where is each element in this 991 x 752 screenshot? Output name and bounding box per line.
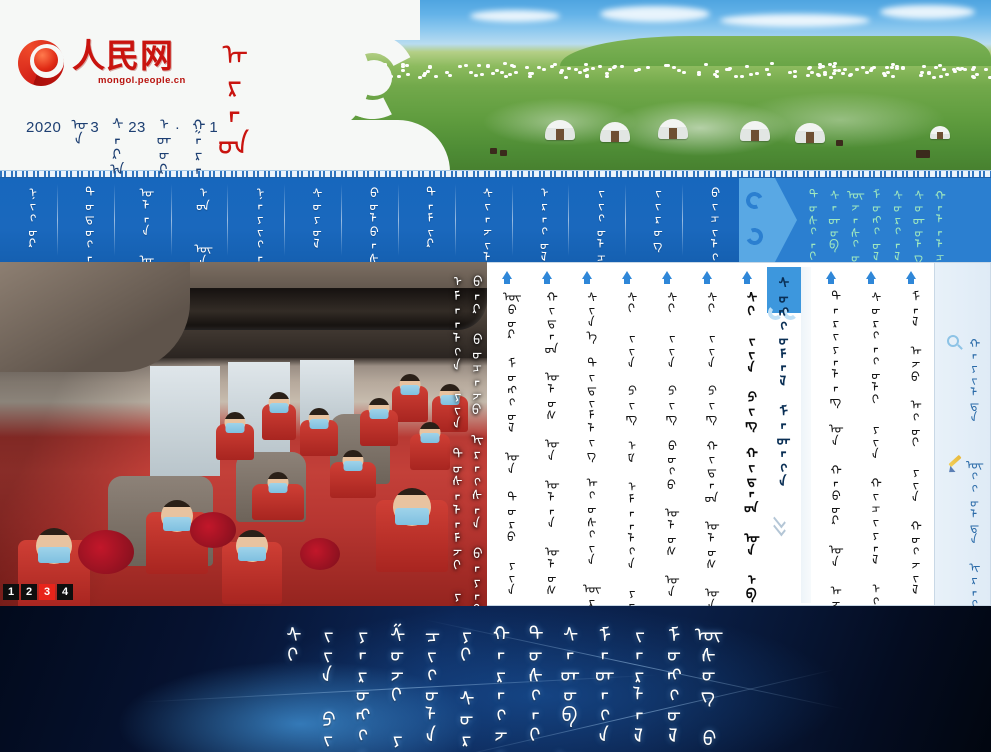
nav-item-5[interactable]: ᠰᠣᠶᠣᠯ — [284, 178, 341, 262]
cloud-swirl-ornament — [0, 0, 520, 172]
nav-item-label: ᠵᠢᠷᠤᠭ — [647, 185, 661, 250]
news-panel: ᠰᠣᠩᠭᠣᠮᠠᠯ ᠮᠡᠳᠡᠭᠡᠰᠢ ᠵᠢᠨ ᠫᠢᠩ ᠬᠢᠲᠠᠳ ᠤᠨ ᠡᠪ ᠬᠠ… — [487, 262, 935, 606]
nav-item-6[interactable]: ᠪᠣᠯᠪᠠᠰᠤᠷᠠᠯ — [341, 178, 398, 262]
banner-text-item-4: ᠴᠢᠬᠤᠯᠠ ᠶᠠᠷᠢᠶ᠎ᠠ — [416, 624, 438, 752]
news-item-title: ᠥᠪᠥᠷ ᠮᠣᠩᠭᠣᠯ ᠤᠨ ᠲᠥᠷᠥ ᠶᠢᠨ ᠶᠠᠪᠤᠳᠠᠯ ᠤᠨ ᠬᠤᠷᠠᠯ… — [500, 289, 515, 603]
greek-key-border — [0, 170, 991, 178]
banner-text-item-9: ᠮᠡᠳᠡᠭᠡ — [588, 624, 610, 744]
horse — [836, 140, 843, 146]
rail-button-0[interactable]: ᠬᠠᠶᠢᠯᠲᠠ — [947, 335, 979, 423]
news-item-title: ᠰᠢ ᠵᠢᠨ ᠫᠢᠩ ᠪᠦᠬᠦ ᠤᠯᠤᠰ ᠤᠨ ᠠᠷᠠᠳ ᠲᠦᠮᠡᠨ ᠳᠦ ᠪᠠ… — [660, 289, 675, 603]
blue-arrow-bullet-icon — [662, 271, 672, 279]
nav-item-label: ᠰᠣᠶᠣᠯ — [306, 185, 320, 250]
blue-arrow-bullet-icon — [702, 271, 712, 279]
news-item-title: ᠮᠠᠯ ᠠᠵᠤ ᠠᠬᠤᠢ ᠶᠢᠨ ᠬᠥᠭᠵᠢᠯ ᠦᠨ ᠰᠢᠨ᠎ᠡ ᠵᠠᠮ ᠁ — [904, 289, 919, 603]
nav-item-label: ᠪᠣᠯᠪᠠᠰᠤᠷᠠᠯ — [363, 185, 377, 262]
news-item[interactable]: ᠲᠠᠷᠢᠶᠠᠯᠠᠩ ᠤᠨ ᠬᠠᠪᠤᠷ ᠤᠨ ᠠᠵᠢᠯ ᠡᠷᠴᠢᠮᠲᠡᠢ ᠶᠠᠪᠤ… — [811, 267, 851, 603]
logo-url-text: mongol.people.cn — [98, 75, 186, 86]
news-item[interactable]: ᠮᠠᠯ ᠠᠵᠤ ᠠᠬᠤᠢ ᠶᠢᠨ ᠬᠥᠭᠵᠢᠯ ᠦᠨ ᠰᠢᠨ᠎ᠡ ᠵᠠᠮ ᠁ — [891, 267, 931, 603]
nav-item-2[interactable]: ᠣᠯᠠᠨ ᠤᠯᠤᠰ — [114, 178, 171, 262]
date-weekday-particle: ᠭᠠᠷᠠᠭ — [187, 116, 202, 138]
nav-item-1[interactable]: ᠳᠣᠲᠣᠭᠠᠳᠤ ᠮᠡᠳᠡᠭᠡ — [57, 178, 114, 262]
date-day: 23 — [128, 119, 146, 136]
news-section-header: ᠰᠣᠩᠭᠣᠮᠠᠯ ᠮᠡᠳᠡᠭᠡ — [767, 267, 801, 603]
news-item-title: ᠬᠢᠲᠠᠳ ᠤᠯᠤᠰ ᠤᠨ ᠣᠯᠠᠨ ᠤᠯᠤᠰ ᠤᠨ ᠬᠠᠮᠲᠤᠷᠠᠯᠴᠠᠭ᠎ᠠ… — [540, 289, 555, 603]
nav-special-item-5[interactable]: ᠰᠤᠳᠤᠯᠭ᠎ᠠ — [907, 187, 926, 262]
nav-item-11[interactable]: ᠵᠢᠷᠤᠭ — [625, 178, 682, 262]
date-weekday: 1 — [209, 119, 218, 136]
cloud-shape — [720, 14, 870, 27]
news-item[interactable]: ᠰᠢ ᠵᠢᠨ ᠫᠢᠩ ᠡᠮ ᠡᠮᠨᠡᠯᠭᠡ ᠶᠢᠨ ᠠᠵᠢᠯᠲᠠᠨ ᠢ ᠬᠦᠨᠳ… — [607, 267, 647, 603]
photo-caption-line-0: ᠡᠮᠨᠡᠯᠭᠡ ᠶᠢᠨ ᠲᠤᠰᠠᠯᠠᠮᠵᠢ ᠶᠢᠨ ᠪᠠᠭ ᠬᠤᠪᠧᠢ ᠠᠴᠠ … — [446, 274, 462, 592]
nav-item-7[interactable]: ᠲᠠᠮᠢᠷ — [398, 178, 455, 262]
slider-pager-dot-1[interactable]: 1 — [3, 584, 19, 600]
yurt — [795, 123, 825, 143]
nav-special-panel: ᠲᠤᠰᠬᠠᠢᠰᠡᠳᠦᠪᠦᠵᠡᠰᠬᠦᠯᠡᠩᠮᠣᠩᠭᠣᠯᠰᠤᠷᠭᠠᠯᠰᠤᠳᠤᠯᠭ᠎ᠠ… — [739, 178, 991, 262]
photo-caption: ᠡᠮᠨᠡᠯᠭᠡ ᠶᠢᠨ ᠲᠤᠰᠠᠯᠠᠮᠵᠢ ᠶᠢᠨ ᠪᠠᠭ ᠬᠤᠪᠧᠢ ᠠᠴᠠ … — [446, 274, 481, 592]
blue-arrow-bullet-icon — [622, 271, 632, 279]
nav-item-10[interactable]: ᠵᠢᠭᠤᠯᠴᠢᠯᠠᠯ — [568, 178, 625, 262]
nav-item-label: ᠳᠣᠲᠣᠭᠠᠳᠤ ᠮᠡᠳᠡᠭᠡ — [78, 185, 92, 262]
nav-item-12[interactable]: ᠪᠢᠴᠢᠯᠭᠡ — [682, 178, 739, 262]
banner-text-item-12: ᠦᠰᠦᠭ ᠪᠢᠴᠢᠭ — [692, 624, 714, 752]
bottom-banner[interactable]: ᠰᠢᠵᠢᠨ ᠫᠢᠩᠶᠡᠷᠦᠩᠬᠡᠢᠱᠦᠵᠢ ᠶᠢᠨᠴᠢᠬᠤᠯᠠ ᠶᠠᠷᠢᠶ᠎ᠠᠶ… — [0, 606, 991, 752]
news-item-title: ᠰᠤᠷᠭᠠᠭᠤᠯᠢ ᠶᠢᠨ ᠬᠢᠴᠢᠶᠡᠯ ᠡᠬᠢᠯᠡᠬᠦ ᠬᠤᠭᠤᠴᠠᠭ᠎ᠠ … — [864, 289, 879, 603]
nav-item-label: ᠵᠢᠭᠤᠯᠴᠢᠯᠠᠯ — [590, 185, 604, 262]
logo-mongolian-text: ᠠᠷᠠᠳ ᠤᠨ ᠰᠦᠯᠵᠢᠶ᠎ᠡ — [200, 38, 253, 82]
blue-arrow-bullet-icon — [582, 271, 592, 279]
date-year: 2020 — [26, 119, 61, 136]
slider-pager[interactable]: 1234 — [3, 584, 73, 600]
nav-item-label: ᠡᠳ᠋ ᠍ ᠦᠨ ᠵᠠᠰᠠᠭ — [192, 185, 206, 262]
nav-special-item-6[interactable]: ᠬᠡᠯᠡᠯᠴᠡ — [928, 187, 947, 262]
nav-item-label: ᠨᠡᠶᠢᠭᠡᠮ — [249, 185, 263, 262]
photo-slider[interactable]: ᠡᠮᠨᠡᠯᠭᠡ ᠶᠢᠨ ᠲᠤᠰᠠᠯᠠᠮᠵᠢ ᠶᠢᠨ ᠪᠠᠭ ᠬᠤᠪᠧᠢ ᠠᠴᠠ … — [0, 262, 487, 606]
double-chevron-more-icon[interactable] — [775, 517, 786, 532]
banner-text-item-10: ᠵᠠᠷᠯᠠᠯ — [623, 624, 645, 744]
yurt — [600, 122, 630, 142]
site-logo[interactable]: 人民网 mongol.people.cn ᠠᠷᠠᠳ ᠤᠨ ᠰᠦᠯᠵᠢᠶ᠎ᠡ — [18, 38, 253, 86]
date-separator: · — [175, 119, 181, 136]
nav-item-label: ᠡᠷᠡᠭᠦᠯ ᠮᠡᠨᠳᠦ — [533, 185, 547, 262]
slider-pager-dot-2[interactable]: 2 — [21, 584, 37, 600]
date-bar: 2020 ᠣᠨ 3 ᠰᠠᠷ᠎ᠠ 23 ᠡᠳᠦᠷ · ᠭᠠᠷᠠᠭ 1 — [26, 116, 218, 138]
nav-items-group: ᠨᠢᠭᠤᠷ ᠬᠠᠭᠤᠳᠠᠰᠤᠳᠣᠲᠣᠭᠠᠳᠤ ᠮᠡᠳᠡᠭᠡᠣᠯᠠᠨ ᠤᠯᠤᠰᠡᠳ… — [0, 178, 739, 262]
blue-arrow-bullet-icon — [866, 271, 876, 279]
date-day-particle: ᠡᠳᠦᠷ — [153, 116, 168, 138]
people-daily-logo-icon — [18, 40, 64, 86]
nav-item-4[interactable]: ᠨᠡᠶᠢᠭᠡᠮ — [227, 178, 284, 262]
nav-item-label: ᠨᠢᠭᠤᠷ ᠬᠠᠭᠤᠳᠠᠰᠤ — [22, 185, 36, 262]
news-section-title: ᠰᠣᠩᠭᠣᠮᠠᠯ ᠮᠡᠳᠡᠭᠡ — [772, 275, 787, 487]
photo-caption-line-1: ᠪᠠᠷ ᠪᠤᠴᠠᠵᠤ ᠢᠷᠡᠭᠰᠡᠨ ᠪᠠᠶᠠᠷ ᠤᠨ ᠠᠭᠤᠷ ᠠᠮᠢᠰᠬᠤᠯ — [465, 274, 481, 592]
blue-arrow-bullet-icon — [742, 271, 752, 279]
right-sidebar: ᠬᠠᠶᠢᠯᠲᠠᠥᠭᠭᠦᠯᠲᠡ ᠢᠷᠡᠭᠦᠯᠬᠦ — [935, 262, 991, 606]
cloud-shape — [880, 5, 975, 19]
news-item[interactable]: ᠥᠪᠥᠷ ᠮᠣᠩᠭᠣᠯ ᠤᠨ ᠲᠥᠷᠥ ᠶᠢᠨ ᠶᠠᠪᠤᠳᠠᠯ ᠤᠨ ᠬᠤᠷᠠᠯ… — [487, 267, 527, 603]
date-month-particle: ᠰᠠᠷ᠎ᠠ — [106, 116, 121, 138]
banner-text-item-7: ᠲᠤᠰᠬᠠᠢ — [519, 624, 541, 744]
yurt — [658, 119, 688, 139]
pencil-edit-icon — [947, 457, 963, 473]
nav-item-0[interactable]: ᠨᠢᠭᠤᠷ ᠬᠠᠭᠤᠳᠠᠰᠤ — [0, 178, 57, 262]
banner-text-item-1: ᠵᠢᠨ ᠫᠢᠩ — [312, 624, 334, 752]
news-item[interactable]: ᠬᠢᠲᠠᠳ ᠤᠯᠤᠰ ᠤᠨ ᠣᠯᠠᠨ ᠤᠯᠤᠰ ᠤᠨ ᠬᠠᠮᠲᠤᠷᠠᠯᠴᠠᠭ᠎ᠠ… — [527, 267, 567, 603]
blue-arrow-bullet-icon — [906, 271, 916, 279]
medical-team-bus-photo — [0, 262, 487, 606]
nav-item-label: ᠲᠠᠮᠢᠷ — [420, 185, 434, 250]
banner-text-item-3: ᠱᠦᠵᠢ ᠶᠢᠨ — [381, 624, 403, 752]
cloud-shape — [600, 6, 710, 22]
blue-arrow-bullet-icon — [502, 271, 512, 279]
news-section-0: ᠰᠣᠩᠭᠣᠮᠠᠯ ᠮᠡᠳᠡᠭᠡᠰᠢ ᠵᠢᠨ ᠫᠢᠩ ᠬᠢᠲᠠᠳ ᠤᠨ ᠡᠪ ᠬᠠ… — [487, 267, 801, 603]
slider-pager-dot-3[interactable]: 3 — [39, 584, 55, 600]
nav-item-8[interactable]: ᠰᠢᠨᠵᠢᠯᠡᠬᠦ — [455, 178, 512, 262]
main-navigation: ᠨᠢᠭᠤᠷ ᠬᠠᠭᠤᠳᠠᠰᠤᠳᠣᠲᠣᠭᠠᠳᠤ ᠮᠡᠳᠡᠭᠡᠣᠯᠠᠨ ᠤᠯᠤᠰᠡᠳ… — [0, 178, 991, 262]
section-separator — [801, 267, 811, 603]
nav-special-item-4[interactable]: ᠰᠤᠷᠭᠠᠯ — [886, 187, 905, 262]
date-month: 3 — [90, 119, 99, 136]
yurt — [740, 121, 770, 141]
banner-text-item-2: ᠶᠡᠷᠦᠩᠬᠡᠢ — [346, 624, 368, 752]
nav-item-3[interactable]: ᠡᠳ᠋ ᠍ ᠦᠨ ᠵᠠᠰᠠᠭ — [171, 178, 228, 262]
news-item[interactable]: ᠰᠤᠷᠭᠠᠭᠤᠯᠢ ᠶᠢᠨ ᠬᠢᠴᠢᠶᠡᠯ ᠡᠬᠢᠯᠡᠬᠦ ᠬᠤᠭᠤᠴᠠᠭ᠎ᠠ … — [851, 267, 891, 603]
nav-item-9[interactable]: ᠡᠷᠡᠭᠦᠯ ᠮᠡᠨᠳᠦ — [512, 178, 569, 262]
news-item-title: ᠲᠠᠷᠢᠶᠠᠯᠠᠩ ᠤᠨ ᠬᠠᠪᠤᠷ ᠤᠨ ᠠᠵᠢᠯ ᠡᠷᠴᠢᠮᠲᠡᠢ ᠶᠠᠪᠤ… — [824, 289, 839, 603]
news-item[interactable]: ᠰᠢ ᠵᠢᠨ ᠫᠢᠩ ᠪᠦᠬᠦ ᠤᠯᠤᠰ ᠤᠨ ᠠᠷᠠᠳ ᠲᠦᠮᠡᠨ ᠳᠦ ᠪᠠ… — [647, 267, 687, 603]
nav-special-item-0[interactable]: ᠲᠤᠰᠬᠠᠢ — [801, 187, 820, 262]
nav-item-label: ᠰᠢᠨᠵᠢᠯᠡᠬᠦ — [476, 185, 490, 262]
banner-text-item-6: ᠬᠡᠷᠡᠭᠵᠢᠭᠦᠯᠬᠦ — [485, 624, 507, 752]
banner-text-item-0: ᠰᠢ — [277, 624, 299, 664]
news-item[interactable]: ᠰᠢᠨ᠎ᠡ ᠲᠢᠲᠢᠮᠯᠢᠭ ᠠᠭᠤᠰᠬᠢᠨ ᠦᠷᠪᠢᠰᠦᠯ ᠢ ᠰᠡᠷᠭᠡᠶᠢ… — [567, 267, 607, 603]
nav-item-label: ᠣᠯᠠᠨ ᠤᠯᠤᠰ — [135, 185, 149, 262]
banner-text-group: ᠰᠢᠵᠢᠨ ᠫᠢᠩᠶᠡᠷᠦᠩᠬᠡᠢᠱᠦᠵᠢ ᠶᠢᠨᠴᠢᠬᠤᠯᠠ ᠶᠠᠷᠢᠶ᠎ᠠᠶ… — [0, 606, 991, 752]
main-content: ᠡᠮᠨᠡᠯᠭᠡ ᠶᠢᠨ ᠲᠤᠰᠠᠯᠠᠮᠵᠢ ᠶᠢᠨ ᠪᠠᠭ ᠬᠤᠪᠧᠢ ᠠᠴᠠ … — [0, 262, 991, 606]
news-item[interactable]: ᠰᠢ ᠵᠢᠨ ᠫᠢᠩ ᠬᠢᠲᠠᠳ ᠤᠨ ᠡᠪ ᠬᠠᠮᠲᠤ ᠨᠠᠮ ᠤᠨ ᠲᠥᠪ … — [727, 267, 767, 603]
blue-arrow-bullet-icon — [542, 271, 552, 279]
yurt — [930, 126, 950, 139]
news-item-title: ᠰᠢ ᠵᠢᠨ ᠫᠢᠩ ᠬᠢᠲᠠᠳ ᠤᠨ ᠡᠪ ᠬᠠᠮᠲᠤ ᠨᠠᠮ ᠤᠨ ᠲᠥᠪ … — [739, 289, 754, 603]
nav-special-item-3[interactable]: ᠮᠣᠩᠭᠣᠯ — [864, 187, 883, 262]
news-item[interactable]: ᠰᠢ ᠵᠢᠨ ᠫᠢᠩ ᠬᠢᠲᠠᠳ ᠤᠯᠤᠰ ᠤᠨ ᠡᠳ᠋ ᠍ ᠦᠨ ᠵᠠᠰᠠᠭ … — [687, 267, 727, 603]
search-icon — [947, 335, 963, 351]
banner-text-item-8: ᠰᠡᠳᠦᠪ ᠦᠨ — [554, 624, 576, 752]
date-year-particle: ᠣᠨ — [68, 116, 83, 138]
news-item-title: ᠰᠢ ᠵᠢᠨ ᠫᠢᠩ ᠡᠮ ᠡᠮᠨᠡᠯᠭᠡ ᠶᠢᠨ ᠠᠵᠢᠯᠲᠠᠨ ᠢ ᠬᠦᠨᠳ… — [620, 289, 635, 603]
yurt — [545, 120, 575, 140]
blue-arrow-bullet-icon — [826, 271, 836, 279]
cart — [916, 150, 930, 158]
nav-special-item-1[interactable]: ᠰᠡᠳᠦᠪ — [822, 187, 841, 250]
news-item-title: ᠰᠢ ᠵᠢᠨ ᠫᠢᠩ ᠬᠢᠲᠠᠳ ᠤᠯᠤᠰ ᠤᠨ ᠡᠳ᠋ ᠍ ᠦᠨ ᠵᠠᠰᠠᠭ … — [700, 289, 715, 603]
rail-button-label: ᠬᠠᠶᠢᠯᠲᠠ — [965, 335, 979, 423]
banner-text-item-11: ᠮᠣᠩᠭᠣᠯ ᠬᠡᠯᠡ — [658, 624, 680, 752]
logo-chinese-text: 人民网 — [72, 39, 186, 72]
site-header: 人民网 mongol.people.cn ᠠᠷᠠᠳ ᠤᠨ ᠰᠦᠯᠵᠢᠶ᠎ᠡ 20… — [0, 0, 991, 178]
banner-text-item-5: ᠶᠢ ᠰᠤᠷᠴᠤ — [450, 624, 472, 752]
nav-item-label: ᠪᠢᠴᠢᠯᠭᠡ — [704, 185, 718, 262]
nav-special-item-2[interactable]: ᠦᠵᠡᠰᠬᠦᠯᠡᠩ — [843, 187, 862, 262]
news-item-title: ᠰᠢᠨ᠎ᠡ ᠲᠢᠲᠢᠮᠯᠢᠭ ᠠᠭᠤᠰᠬᠢᠨ ᠦᠷᠪᠢᠰᠦᠯ ᠢ ᠰᠡᠷᠭᠡᠶᠢ… — [580, 289, 595, 603]
slider-pager-dot-4[interactable]: 4 — [57, 584, 73, 600]
